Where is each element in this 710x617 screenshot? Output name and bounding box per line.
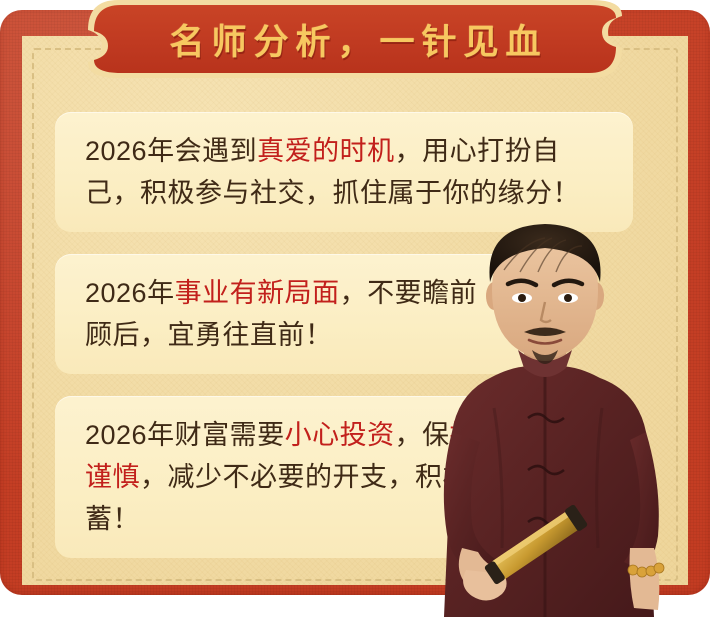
banner-title-text: 名师分析，一针见血 (88, 0, 622, 78)
highlight-segment: 真爱的时机 (257, 136, 395, 166)
text-segment: 2026年 (85, 278, 175, 308)
card-love-text: 2026年会遇到真爱的时机，用心打扮自己，积极参与社交，抓住属于你的缘分！ (85, 130, 609, 214)
card-wealth: 2026年财富需要小心投资，保持谨慎，减少不必要的开支，积极储蓄！ (55, 396, 525, 558)
poster-root: 名师分析，一针见血 2026年会遇到真爱的时机，用心打扮自己，积极参与社交，抓住… (0, 0, 710, 617)
text-segment: 2026年会遇到 (85, 136, 257, 166)
card-wealth-text: 2026年财富需要小心投资，保持谨慎，减少不必要的开支，积极储蓄！ (85, 414, 501, 540)
text-segment: ，保 (395, 420, 450, 450)
card-list: 2026年会遇到真爱的时机，用心打扮自己，积极参与社交，抓住属于你的缘分！ 20… (55, 112, 633, 580)
text-segment: 2026年财富需要 (85, 420, 285, 450)
highlight-segment: 事业有新局面 (175, 278, 340, 308)
title-banner: 名师分析，一针见血 (88, 0, 622, 82)
card-career-text: 2026年事业有新局面，不要瞻前顾后，宜勇往直前！ (85, 272, 501, 356)
highlight-segment: 小心投资 (285, 420, 395, 450)
text-segment: ，减少不必要的开支，积极储蓄！ (85, 462, 498, 534)
card-love: 2026年会遇到真爱的时机，用心打扮自己，积极参与社交，抓住属于你的缘分！ (55, 112, 633, 232)
card-career: 2026年事业有新局面，不要瞻前顾后，宜勇往直前！ (55, 254, 525, 374)
